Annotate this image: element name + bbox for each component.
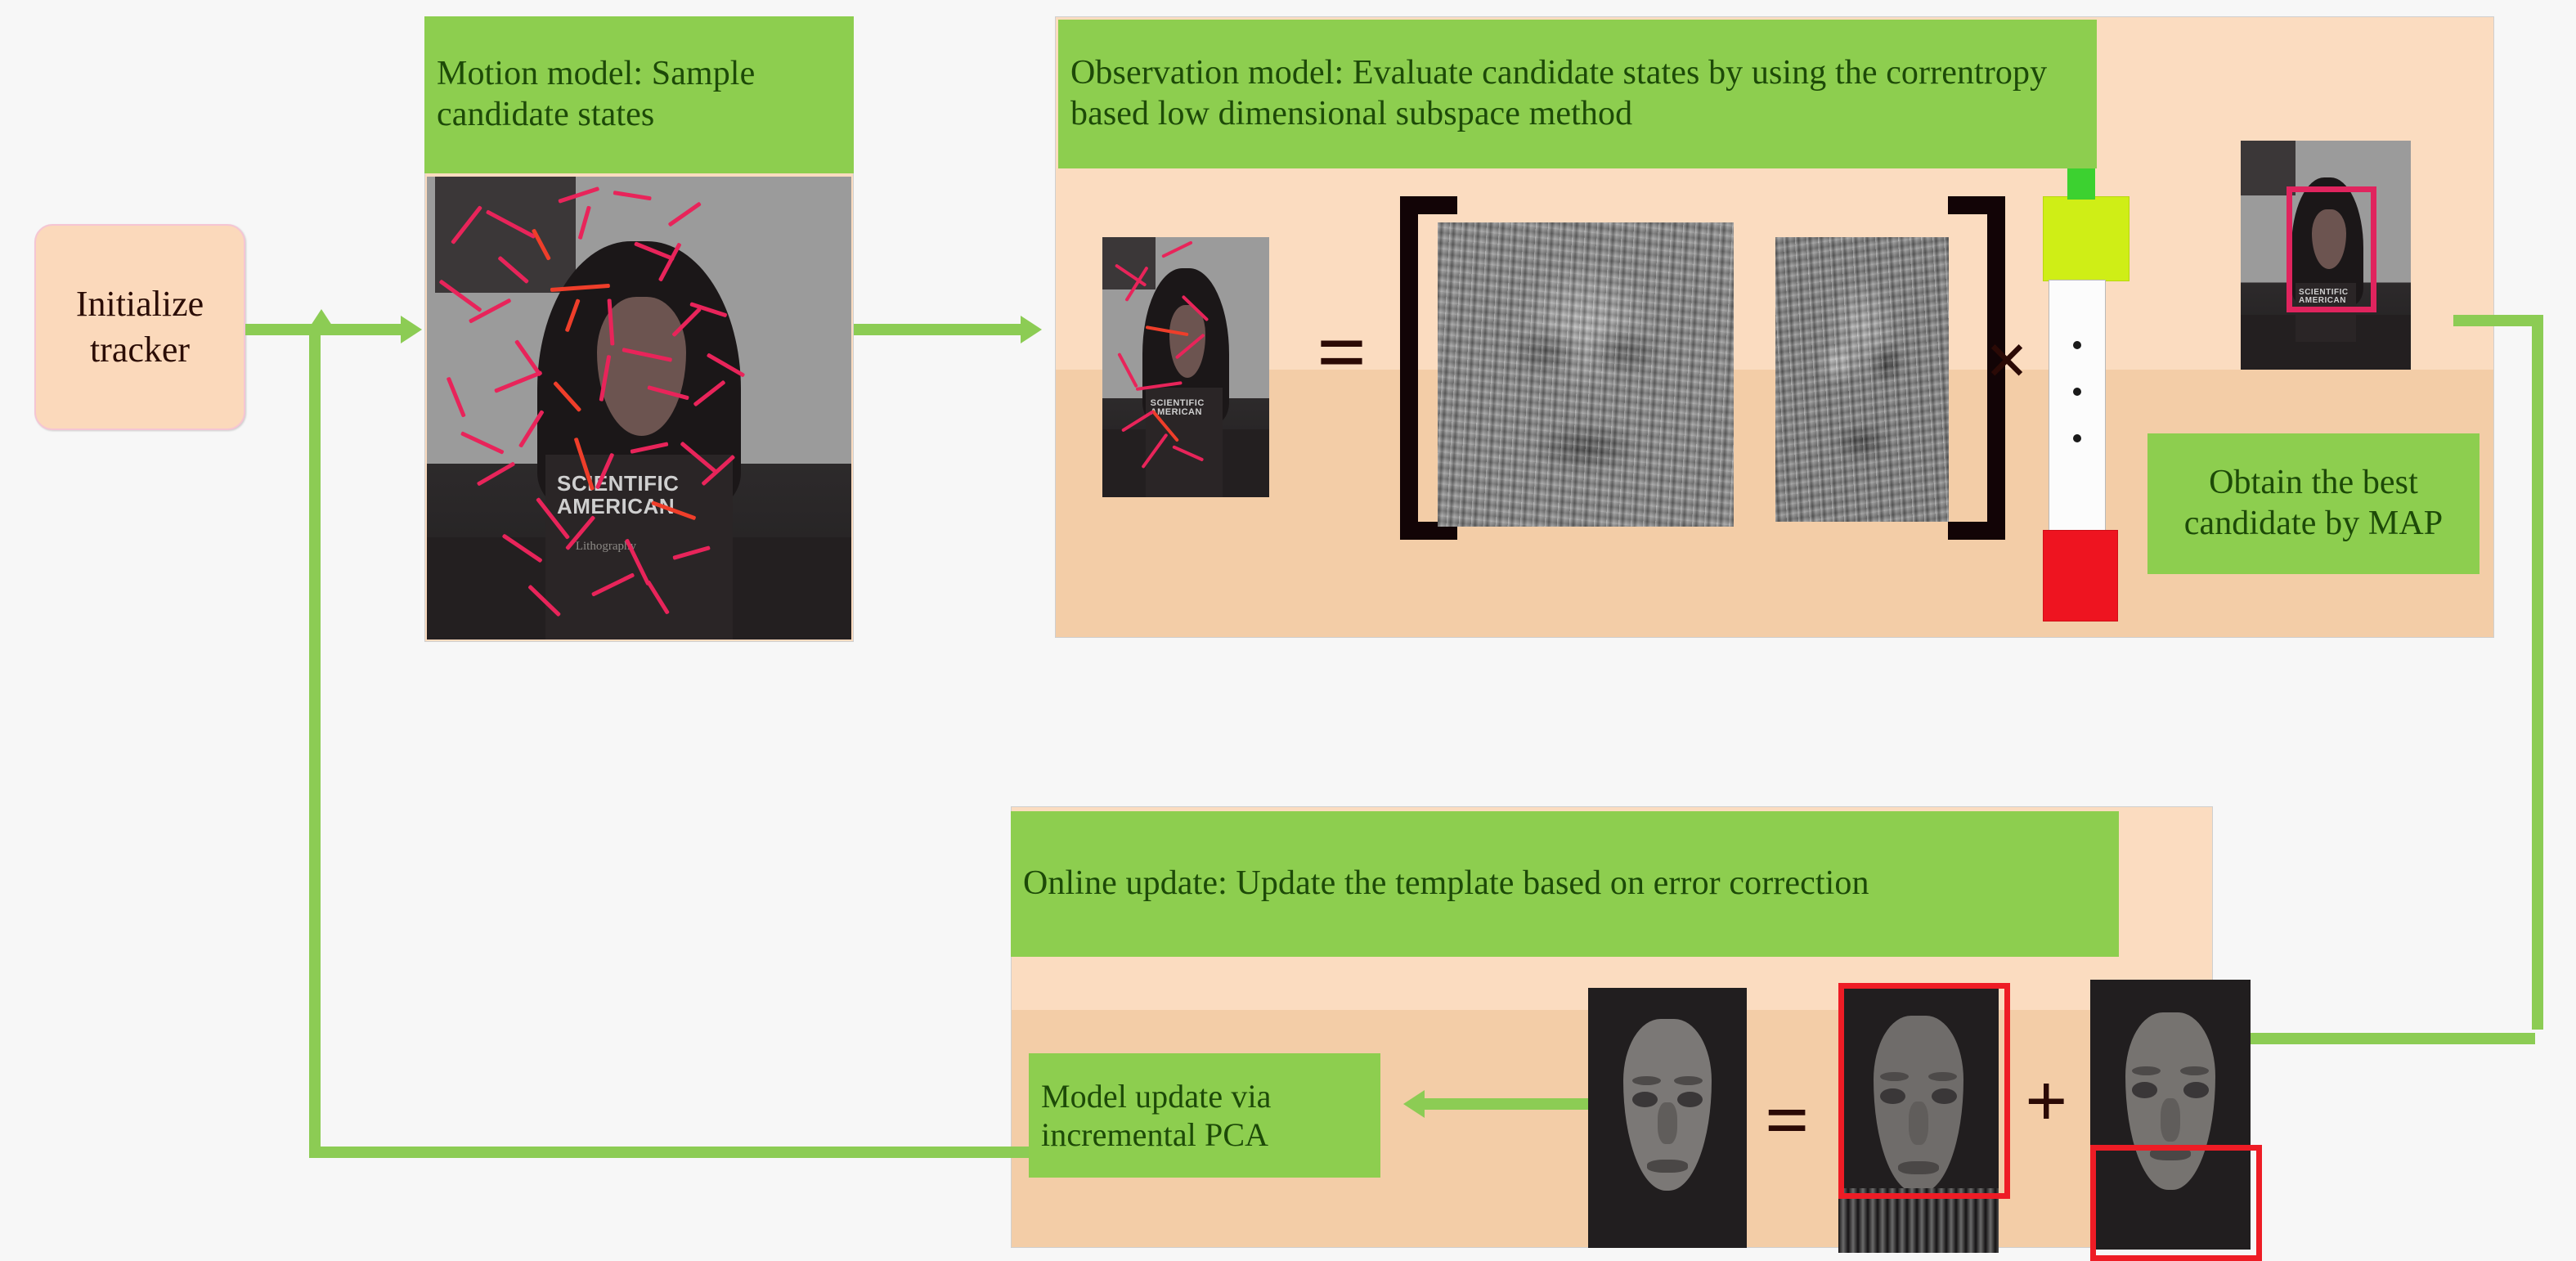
- eigenbasis-image-2: [1775, 237, 1949, 522]
- equals-sign-observation: =: [1317, 309, 1367, 397]
- coefficient-dot-2: [2073, 388, 2081, 396]
- coefficient-vector-middle-column: [2049, 280, 2106, 532]
- map-result-label-text: Obtain the best candidate by MAP: [2148, 463, 2479, 544]
- arrow-observation-to-online-update: [2453, 315, 2576, 1051]
- online-update-label: Online update: Update the template based…: [1011, 811, 2119, 957]
- candidate-patch-image: SCIENTIFIC AMERICAN: [1102, 237, 1269, 497]
- best-candidate-tracking-rectangle: [2287, 186, 2376, 312]
- diagram-canvas: Initialize tracker SCIENTIFIC AMERICAN L…: [0, 0, 2576, 1259]
- template-face-image: [1588, 988, 1747, 1248]
- motion-model-label: Motion model: Sample candidate states: [424, 16, 854, 173]
- motion-model-label-text: Motion model: Sample candidate states: [425, 54, 853, 135]
- online-update-label-text: Online update: Update the template based…: [1012, 864, 2118, 904]
- observation-header-connector: [2067, 168, 2095, 200]
- initialize-tracker-label-line2: tracker: [76, 327, 204, 373]
- observation-model-label: Observation model: Evaluate candidate st…: [1058, 20, 2097, 168]
- equals-sign-online-update: =: [1765, 1081, 1810, 1160]
- coefficient-vector-bottom-block: [2043, 530, 2118, 622]
- incremental-pca-label: Model update via incremental PCA: [1029, 1053, 1380, 1178]
- incremental-pca-label-text: Model update via incremental PCA: [1030, 1077, 1380, 1154]
- initialize-tracker-label-line1: Initialize: [76, 281, 204, 327]
- eigenbasis-image-1: [1438, 222, 1734, 527]
- arrow-pca-to-motion-model: [309, 307, 1037, 1158]
- map-result-label: Obtain the best candidate by MAP: [2147, 433, 2480, 574]
- error-face-tracking-rectangle: [2090, 1145, 2262, 1261]
- coefficient-vector-top-block: [2043, 196, 2129, 281]
- arrow-template-to-pca: [1382, 1088, 1603, 1120]
- coefficient-dot-3: [2073, 434, 2081, 442]
- initialize-tracker-node[interactable]: Initialize tracker: [34, 224, 245, 430]
- reconstructed-face-tracking-rectangle: [1838, 983, 2010, 1199]
- best-candidate-frame-image: SCIENTIFIC AMERICAN: [2241, 141, 2411, 370]
- coefficient-dot-1: [2073, 341, 2081, 349]
- observation-model-label-text: Observation model: Evaluate candidate st…: [1059, 53, 2096, 134]
- plus-sign: +: [2025, 1063, 2067, 1138]
- multiplication-sign: ×: [1986, 322, 2028, 397]
- candidate-patch-markers: [1102, 237, 1269, 497]
